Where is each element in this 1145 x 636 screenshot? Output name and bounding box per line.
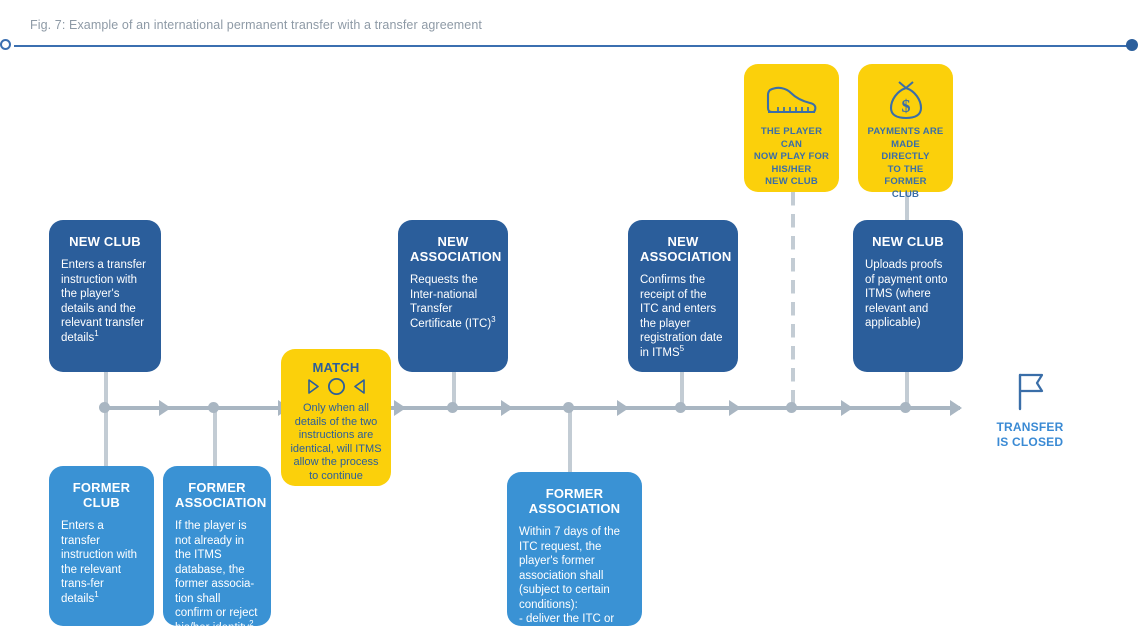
timeline-arrow-1 bbox=[159, 400, 171, 416]
timeline-node-5 bbox=[675, 402, 686, 413]
step-new-club-1: NEW CLUB Enters a transfer instruction w… bbox=[49, 220, 161, 372]
step-body: Only when all details of the two instruc… bbox=[290, 402, 382, 483]
connector-boot-callout-dashed bbox=[791, 192, 795, 408]
callout-line: NEW CLUB bbox=[752, 176, 831, 189]
money-bag-icon: $ bbox=[866, 78, 945, 122]
step-new-club-2: NEW CLUB Uploads proofs of payment onto … bbox=[853, 220, 963, 372]
footnote-marker: 5 bbox=[680, 344, 684, 353]
timeline-arrow-3 bbox=[394, 400, 406, 416]
callout-line: MADE DIRECTLY bbox=[866, 139, 945, 164]
timeline-node-4 bbox=[563, 402, 574, 413]
end-marker: TRANSFER IS CLOSED bbox=[975, 372, 1085, 450]
timeline-node-3 bbox=[447, 402, 458, 413]
match-triangles-circle-icon bbox=[290, 377, 382, 396]
timeline-node-1 bbox=[99, 402, 110, 413]
callout-line: NOW PLAY FOR bbox=[752, 151, 831, 164]
end-label-line-2: IS CLOSED bbox=[975, 435, 1085, 450]
connector-former-association-1 bbox=[213, 406, 217, 466]
callout-line: TO THE FORMER bbox=[866, 164, 945, 189]
timeline-node-7 bbox=[900, 402, 911, 413]
header-end-dot bbox=[1126, 39, 1138, 51]
timeline-axis bbox=[104, 406, 960, 410]
header-divider bbox=[14, 45, 1131, 47]
timeline-arrow-5 bbox=[617, 400, 629, 416]
connector-former-club bbox=[104, 406, 108, 466]
step-body: Requests the Inter-national Transfer Cer… bbox=[410, 273, 496, 331]
callout-line: PAYMENTS ARE bbox=[866, 126, 945, 139]
timeline-arrow-7 bbox=[841, 400, 853, 416]
step-body: Uploads proofs of payment onto ITMS (whe… bbox=[865, 258, 951, 331]
step-former-association-2: FORMER ASSOCIATION Within 7 days of the … bbox=[507, 472, 642, 626]
svg-text:$: $ bbox=[901, 96, 910, 116]
footnote-marker: 1 bbox=[94, 590, 98, 599]
footnote-marker: 3 bbox=[491, 315, 495, 324]
step-body: Enters a transfer instruction with the p… bbox=[61, 258, 149, 345]
callout-player-can-play: THE PLAYER CAN NOW PLAY FOR HIS/HER NEW … bbox=[744, 64, 839, 192]
timeline-arrow-4 bbox=[501, 400, 513, 416]
footnote-marker: 1 bbox=[94, 329, 98, 338]
step-match: MATCH Only when all details of the two i… bbox=[281, 349, 391, 486]
step-title: MATCH bbox=[290, 360, 382, 375]
flag-icon bbox=[1013, 372, 1047, 412]
step-title: FORMER CLUB bbox=[61, 480, 142, 510]
timeline-node-2 bbox=[208, 402, 219, 413]
end-label-line-1: TRANSFER bbox=[975, 420, 1085, 435]
step-body: Within 7 days of the ITC request, the pl… bbox=[519, 525, 630, 636]
timeline-node-6 bbox=[786, 402, 797, 413]
timeline-arrow-6 bbox=[729, 400, 741, 416]
end-marker-label: TRANSFER IS CLOSED bbox=[975, 420, 1085, 450]
step-new-association-2: NEW ASSOCIATION Confirms the receipt of … bbox=[628, 220, 738, 372]
step-title: FORMER ASSOCIATION bbox=[175, 480, 259, 510]
step-title: NEW CLUB bbox=[61, 234, 149, 249]
step-title: NEW ASSOCIATION bbox=[410, 234, 496, 264]
step-former-club: FORMER CLUB Enters a transfer instructio… bbox=[49, 466, 154, 626]
step-body: Confirms the receipt of the ITC and ente… bbox=[640, 273, 726, 360]
header-start-dot bbox=[0, 39, 11, 50]
step-body: If the player is not already in the ITMS… bbox=[175, 519, 259, 635]
callout-line: CLUB bbox=[866, 189, 945, 202]
callout-line: HIS/HER bbox=[752, 164, 831, 177]
figure-container: Fig. 7: Example of an international perm… bbox=[0, 0, 1145, 636]
footnote-marker: 2 bbox=[249, 619, 253, 628]
football-boot-icon bbox=[752, 78, 831, 122]
callout-player-can-play-text: THE PLAYER CAN NOW PLAY FOR HIS/HER NEW … bbox=[752, 126, 831, 189]
step-title: NEW ASSOCIATION bbox=[640, 234, 726, 264]
step-body: Enters a transfer instruction with the r… bbox=[61, 519, 142, 606]
figure-caption: Fig. 7: Example of an international perm… bbox=[30, 18, 482, 32]
step-new-association-1: NEW ASSOCIATION Requests the Inter-natio… bbox=[398, 220, 508, 372]
callout-payments-to-former-club: $ PAYMENTS ARE MADE DIRECTLY TO THE FORM… bbox=[858, 64, 953, 192]
step-title: FORMER ASSOCIATION bbox=[519, 486, 630, 516]
callout-payments-text: PAYMENTS ARE MADE DIRECTLY TO THE FORMER… bbox=[866, 126, 945, 201]
step-former-association-1: FORMER ASSOCIATION If the player is not … bbox=[163, 466, 271, 626]
timeline-arrow-end bbox=[950, 400, 962, 416]
callout-line: THE PLAYER CAN bbox=[752, 126, 831, 151]
connector-former-association-2 bbox=[568, 406, 572, 472]
step-title: NEW CLUB bbox=[865, 234, 951, 249]
